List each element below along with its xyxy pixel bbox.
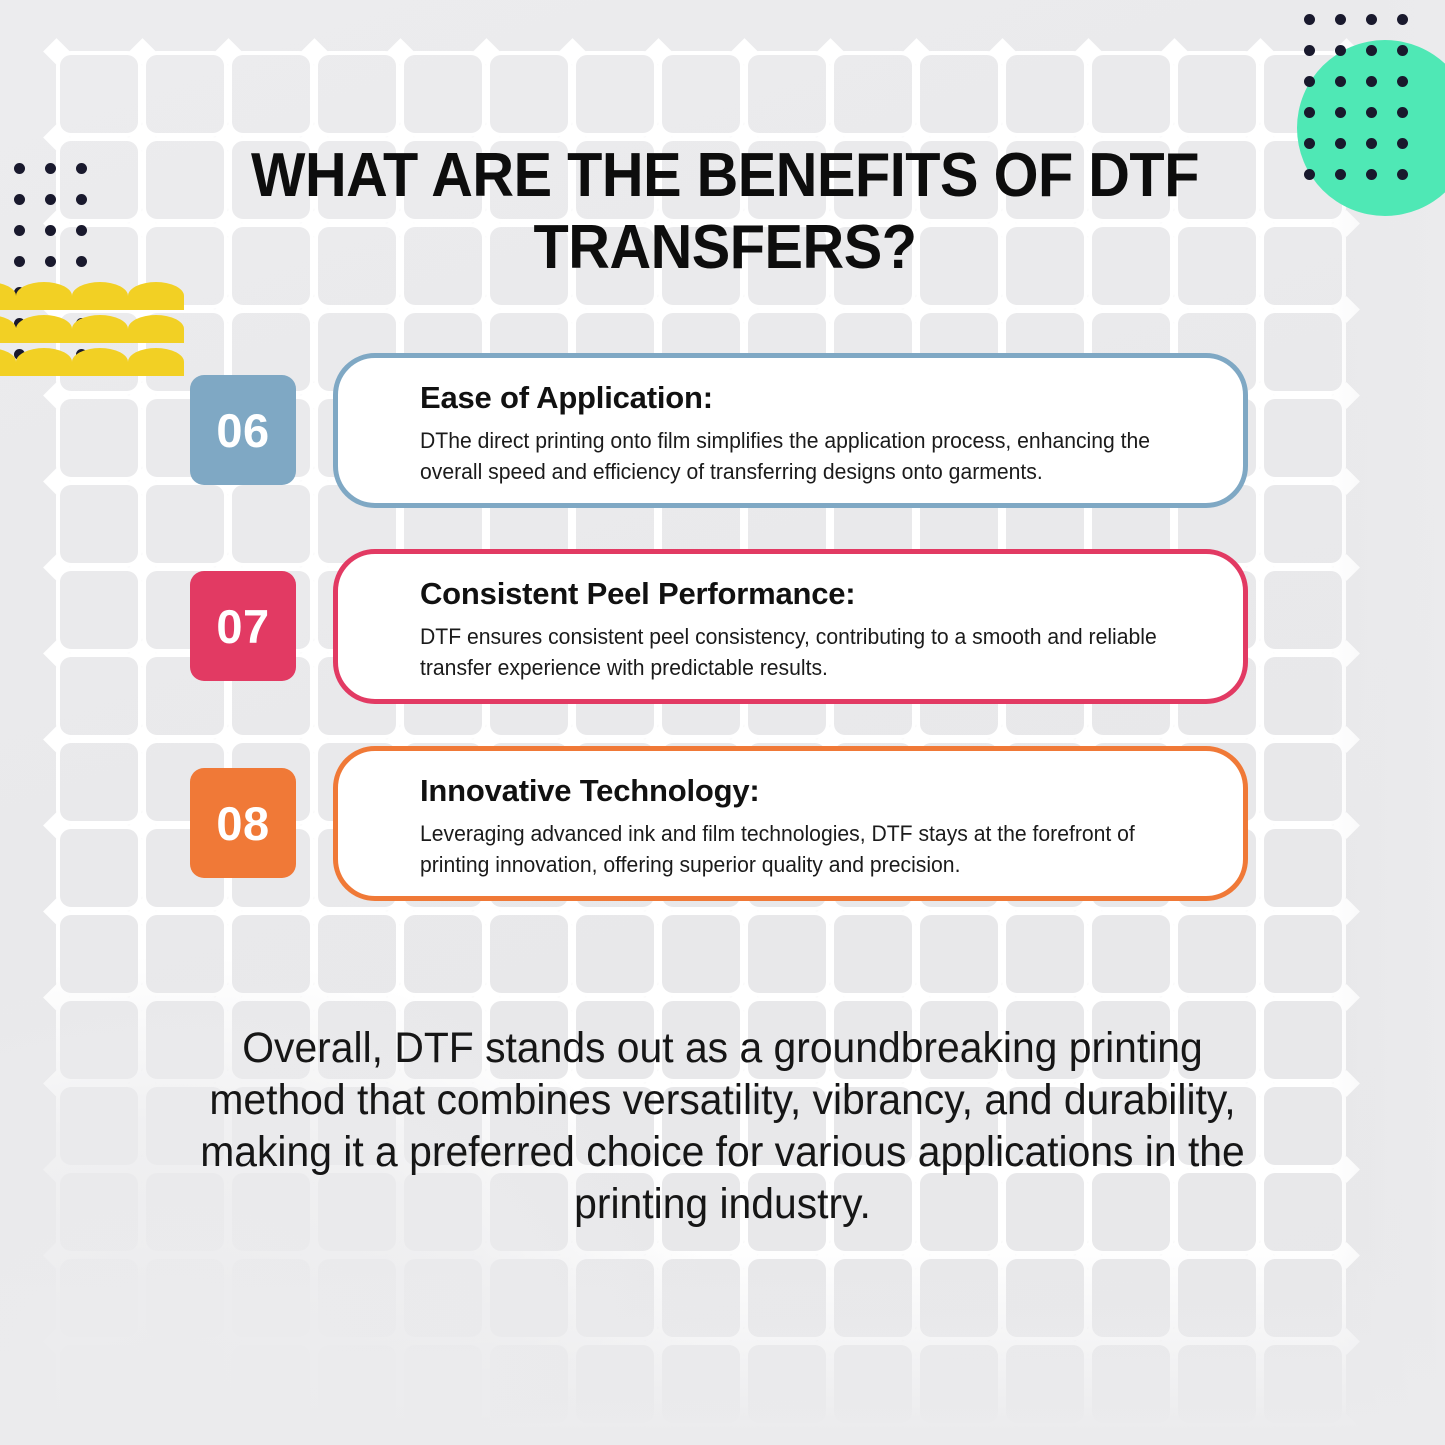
benefit-card-06[interactable]: Ease of Application: DThe direct printin… bbox=[333, 353, 1248, 508]
benefit-row-08: 08 Innovative Technology: Leveraging adv… bbox=[0, 746, 1445, 911]
summary-paragraph: Overall, DTF stands out as a groundbreak… bbox=[198, 1022, 1248, 1230]
card-body-06: DThe direct printing onto film simplifie… bbox=[420, 425, 1204, 487]
badge-number-07: 07 bbox=[190, 571, 296, 681]
dot-grid-icon-top-right bbox=[1304, 14, 1429, 184]
badge-label-07: 07 bbox=[216, 599, 269, 654]
badge-number-08: 08 bbox=[190, 768, 296, 878]
badge-number-06: 06 bbox=[190, 375, 296, 485]
infographic-poster: WHAT ARE THE BENEFITS OF DTF TRANSFERS? … bbox=[0, 0, 1445, 1445]
badge-label-08: 08 bbox=[216, 796, 269, 851]
benefit-card-07[interactable]: Consistent Peel Performance: DTF ensures… bbox=[333, 549, 1248, 704]
page-title: WHAT ARE THE BENEFITS OF DTF TRANSFERS? bbox=[227, 140, 1222, 284]
card-body-07: DTF ensures consistent peel consistency,… bbox=[420, 621, 1204, 683]
card-body-08: Leveraging advanced ink and film technol… bbox=[420, 818, 1204, 880]
card-heading-08: Innovative Technology: bbox=[420, 771, 1207, 811]
badge-label-06: 06 bbox=[216, 403, 269, 458]
benefit-row-06: 06 Ease of Application: DThe direct prin… bbox=[0, 353, 1445, 518]
card-heading-06: Ease of Application: bbox=[420, 378, 1207, 418]
card-heading-07: Consistent Peel Performance: bbox=[420, 574, 1207, 614]
benefit-card-08[interactable]: Innovative Technology: Leveraging advanc… bbox=[333, 746, 1248, 901]
benefit-row-07: 07 Consistent Peel Performance: DTF ensu… bbox=[0, 549, 1445, 714]
